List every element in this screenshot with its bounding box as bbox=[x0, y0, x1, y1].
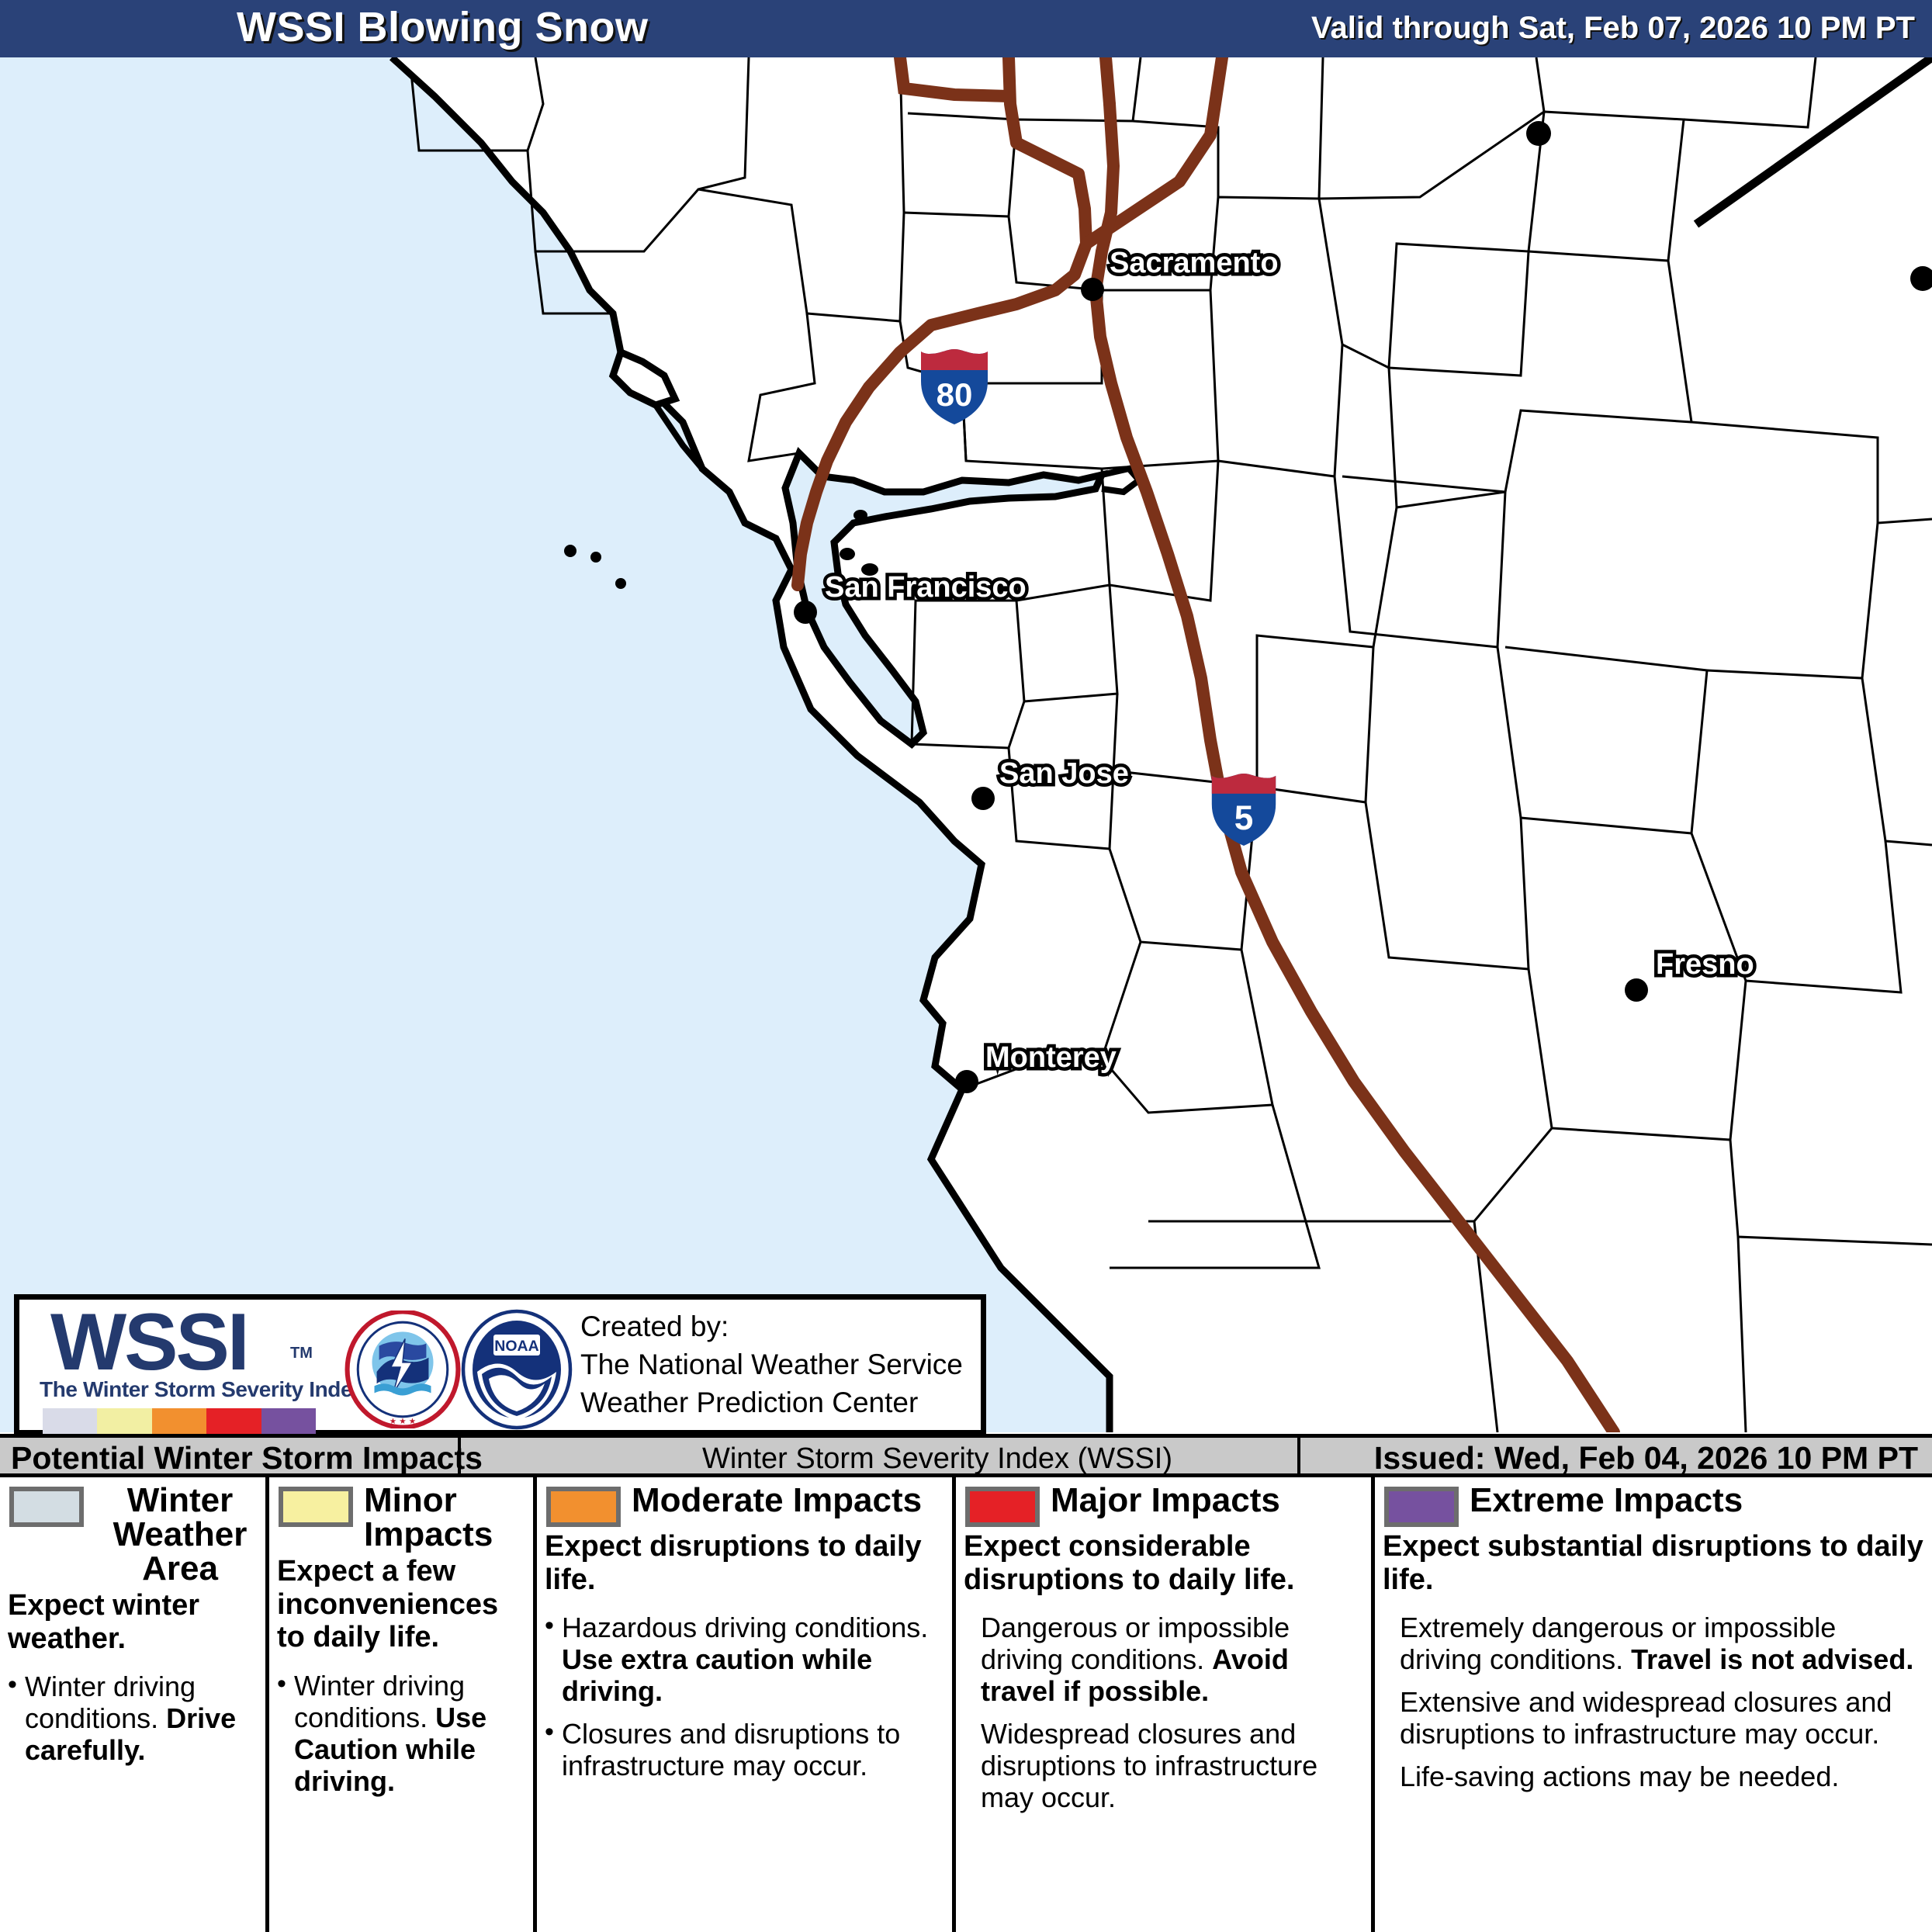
page-title: WSSI Blowing Snow bbox=[237, 3, 648, 51]
wssi-logo-box: WSSI TM The Winter Storm Severity Index … bbox=[14, 1294, 986, 1435]
bullet-dot-icon: • bbox=[8, 1671, 25, 1766]
legend-bullet: • Winter driving conditions. Drive caref… bbox=[8, 1671, 259, 1766]
impacts-legend: Winter Weather Area Expect winter weathe… bbox=[0, 1477, 1932, 1932]
legend-bullets-major-impacts: • Dangerous or impossible driving condit… bbox=[956, 1596, 1371, 1813]
legend-bullets-extreme-impacts: • Extremely dangerous or impossible driv… bbox=[1375, 1596, 1932, 1792]
legend-lead-extreme-impacts: Expect substantial disruptions to daily … bbox=[1375, 1527, 1932, 1596]
scale-swatch-extreme bbox=[261, 1408, 316, 1435]
legend-title-extreme-impacts: Extreme Impacts bbox=[1470, 1484, 1932, 1518]
bullet-dot-icon: • bbox=[545, 1612, 562, 1707]
bullet-dot-icon: • bbox=[545, 1718, 562, 1781]
issued-label: Issued: Wed, Feb 04, 2026 10 PM PT bbox=[1374, 1440, 1918, 1477]
created-by-line-3: Weather Prediction Center bbox=[580, 1383, 963, 1421]
legend-bullet: • Closures and disruptions to infrastruc… bbox=[545, 1718, 946, 1781]
legend-swatch-minor-impacts bbox=[279, 1487, 353, 1527]
svg-text:NOAA: NOAA bbox=[494, 1338, 538, 1355]
bullet-dot-icon: • bbox=[277, 1670, 294, 1797]
legend-header: Winter Weather Area bbox=[0, 1477, 265, 1586]
bay-island-b bbox=[840, 548, 855, 560]
legend-bullet: • Winter driving conditions. Use Caution… bbox=[277, 1670, 527, 1797]
wssi-wordmark: WSSI bbox=[50, 1297, 248, 1389]
legend-column-winter-weather-area[interactable]: Winter Weather Area Expect winter weathe… bbox=[0, 1477, 269, 1932]
city-label-monterey: Monterey Monterey bbox=[985, 1041, 1117, 1075]
valid-through-text: Valid through Sat, Feb 07, 2026 10 PM PT bbox=[1311, 11, 1915, 46]
legend-lead-winter-weather-area: Expect winter weather. bbox=[0, 1586, 265, 1655]
legend-bullet: • Widespread closures and disruptions to… bbox=[964, 1718, 1365, 1813]
city-label-san-jose: San Jose San Jose bbox=[999, 757, 1129, 791]
wssi-name-label: Winter Storm Severity Index (WSSI) bbox=[702, 1442, 1172, 1476]
bullet-text: Winter driving conditions. Drive careful… bbox=[25, 1671, 259, 1766]
scale-swatch-winter bbox=[43, 1408, 97, 1435]
status-bar: Potential Winter Storm Impacts Winter St… bbox=[0, 1434, 1932, 1477]
svg-text:★ ★ ★: ★ ★ ★ bbox=[390, 1417, 417, 1426]
page-header: WSSI Blowing Snow Valid through Sat, Feb… bbox=[0, 0, 1932, 57]
legend-bullets-moderate-impacts: • Hazardous driving conditions. Use extr… bbox=[537, 1596, 952, 1781]
created-by-text: Created by: The National Weather Service… bbox=[580, 1307, 963, 1422]
legend-column-extreme-impacts[interactable]: Extreme Impacts Expect substantial disru… bbox=[1375, 1477, 1932, 1932]
legend-header: Extreme Impacts bbox=[1375, 1477, 1932, 1527]
legend-header: Moderate Impacts bbox=[537, 1477, 952, 1527]
legend-lead-major-impacts: Expect considerable disruptions to daily… bbox=[956, 1527, 1371, 1596]
city-label-sacramento: Sacramento Sacramento bbox=[1110, 247, 1279, 280]
created-by-line-1: Created by: bbox=[580, 1307, 963, 1345]
created-by-line-2: The National Weather Service bbox=[580, 1345, 963, 1383]
legend-bullet: • Dangerous or impossible driving condit… bbox=[964, 1612, 1365, 1707]
scale-swatch-major bbox=[206, 1408, 261, 1435]
bay-island-a bbox=[853, 510, 867, 521]
city-dot-fresno bbox=[1625, 978, 1648, 1002]
bullet-text: Extremely dangerous or impossible drivin… bbox=[1400, 1612, 1926, 1675]
legend-title-winter-weather-area: Winter Weather Area bbox=[95, 1484, 265, 1586]
legend-bullet: • Hazardous driving conditions. Use extr… bbox=[545, 1612, 946, 1707]
bullet-text: Winter driving conditions. Use Caution w… bbox=[294, 1670, 527, 1797]
legend-lead-moderate-impacts: Expect disruptions to daily life. bbox=[537, 1527, 952, 1596]
farallon-island-1 bbox=[564, 545, 576, 557]
trademark-symbol: TM bbox=[290, 1345, 313, 1362]
legend-bullet: • Extensive and widespread closures and … bbox=[1383, 1686, 1926, 1750]
wssi-subtitle: The Winter Storm Severity Index bbox=[40, 1377, 364, 1402]
bullet-text: Closures and disruptions to infrastructu… bbox=[562, 1718, 946, 1781]
legend-swatch-winter-weather-area bbox=[9, 1487, 84, 1527]
city-dot-sacramento bbox=[1081, 278, 1104, 301]
interstate-5-north bbox=[1106, 57, 1110, 104]
city-dot-san-jose bbox=[971, 787, 995, 810]
map-geometry bbox=[0, 57, 1932, 1432]
legend-bullets-minor-impacts: • Winter driving conditions. Use Caution… bbox=[269, 1654, 533, 1797]
scale-swatch-moderate bbox=[152, 1408, 206, 1435]
legend-bullet: • Life-saving actions may be needed. bbox=[1383, 1761, 1926, 1792]
noaa-seal-icon: NOAA bbox=[459, 1309, 575, 1430]
scale-swatch-minor bbox=[97, 1408, 151, 1435]
bullet-text: Life-saving actions may be needed. bbox=[1400, 1761, 1926, 1792]
legend-header: Major Impacts bbox=[956, 1477, 1371, 1527]
nws-seal-icon: ★ ★ ★ bbox=[344, 1311, 462, 1428]
legend-column-minor-impacts[interactable]: Minor Impacts Expect a few inconvenience… bbox=[269, 1477, 537, 1932]
svg-text:80: 80 bbox=[937, 376, 973, 413]
legend-swatch-major-impacts bbox=[965, 1487, 1040, 1527]
legend-title-moderate-impacts: Moderate Impacts bbox=[632, 1484, 952, 1518]
legend-title-major-impacts: Major Impacts bbox=[1051, 1484, 1371, 1518]
wssi-color-scale bbox=[43, 1408, 316, 1435]
bullet-text: Dangerous or impossible driving conditio… bbox=[981, 1612, 1365, 1707]
legend-title-minor-impacts: Minor Impacts bbox=[364, 1484, 533, 1552]
bullet-text: Extensive and widespread closures and di… bbox=[1400, 1686, 1926, 1750]
interstate-shield-5: 5 bbox=[1208, 771, 1279, 849]
bullet-text: Hazardous driving conditions. Use extra … bbox=[562, 1612, 946, 1707]
legend-bullet: • Extremely dangerous or impossible driv… bbox=[1383, 1612, 1926, 1675]
farallon-island-3 bbox=[615, 578, 626, 589]
map-dot-north bbox=[1526, 121, 1551, 146]
legend-lead-minor-impacts: Expect a few inconveniences to daily lif… bbox=[269, 1552, 533, 1654]
legend-column-major-impacts[interactable]: Major Impacts Expect considerable disrup… bbox=[956, 1477, 1375, 1932]
farallon-island-2 bbox=[590, 552, 601, 563]
legend-column-moderate-impacts[interactable]: Moderate Impacts Expect disruptions to d… bbox=[537, 1477, 956, 1932]
map-canvas[interactable]: Sacramento Sacramento San Francisco San … bbox=[0, 57, 1932, 1432]
svg-text:5: 5 bbox=[1234, 799, 1254, 837]
legend-bullets-winter-weather-area: • Winter driving conditions. Drive caref… bbox=[0, 1655, 265, 1766]
bullet-text: Widespread closures and disruptions to i… bbox=[981, 1718, 1365, 1813]
legend-swatch-extreme-impacts bbox=[1384, 1487, 1459, 1527]
status-divider-2 bbox=[1297, 1438, 1300, 1473]
interstate-shield-80: 80 bbox=[917, 347, 992, 428]
city-dot-monterey bbox=[955, 1070, 978, 1093]
status-divider-1 bbox=[458, 1438, 461, 1473]
city-dot-san-francisco bbox=[794, 601, 817, 624]
city-label-fresno: Fresno Fresno bbox=[1656, 948, 1754, 982]
city-label-san-francisco: San Francisco San Francisco bbox=[825, 571, 1027, 604]
legend-header: Minor Impacts bbox=[269, 1477, 533, 1552]
wssi-map-page: WSSI Blowing Snow Valid through Sat, Feb… bbox=[0, 0, 1932, 1932]
legend-swatch-moderate-impacts bbox=[546, 1487, 621, 1527]
potential-impacts-label: Potential Winter Storm Impacts bbox=[11, 1440, 483, 1477]
